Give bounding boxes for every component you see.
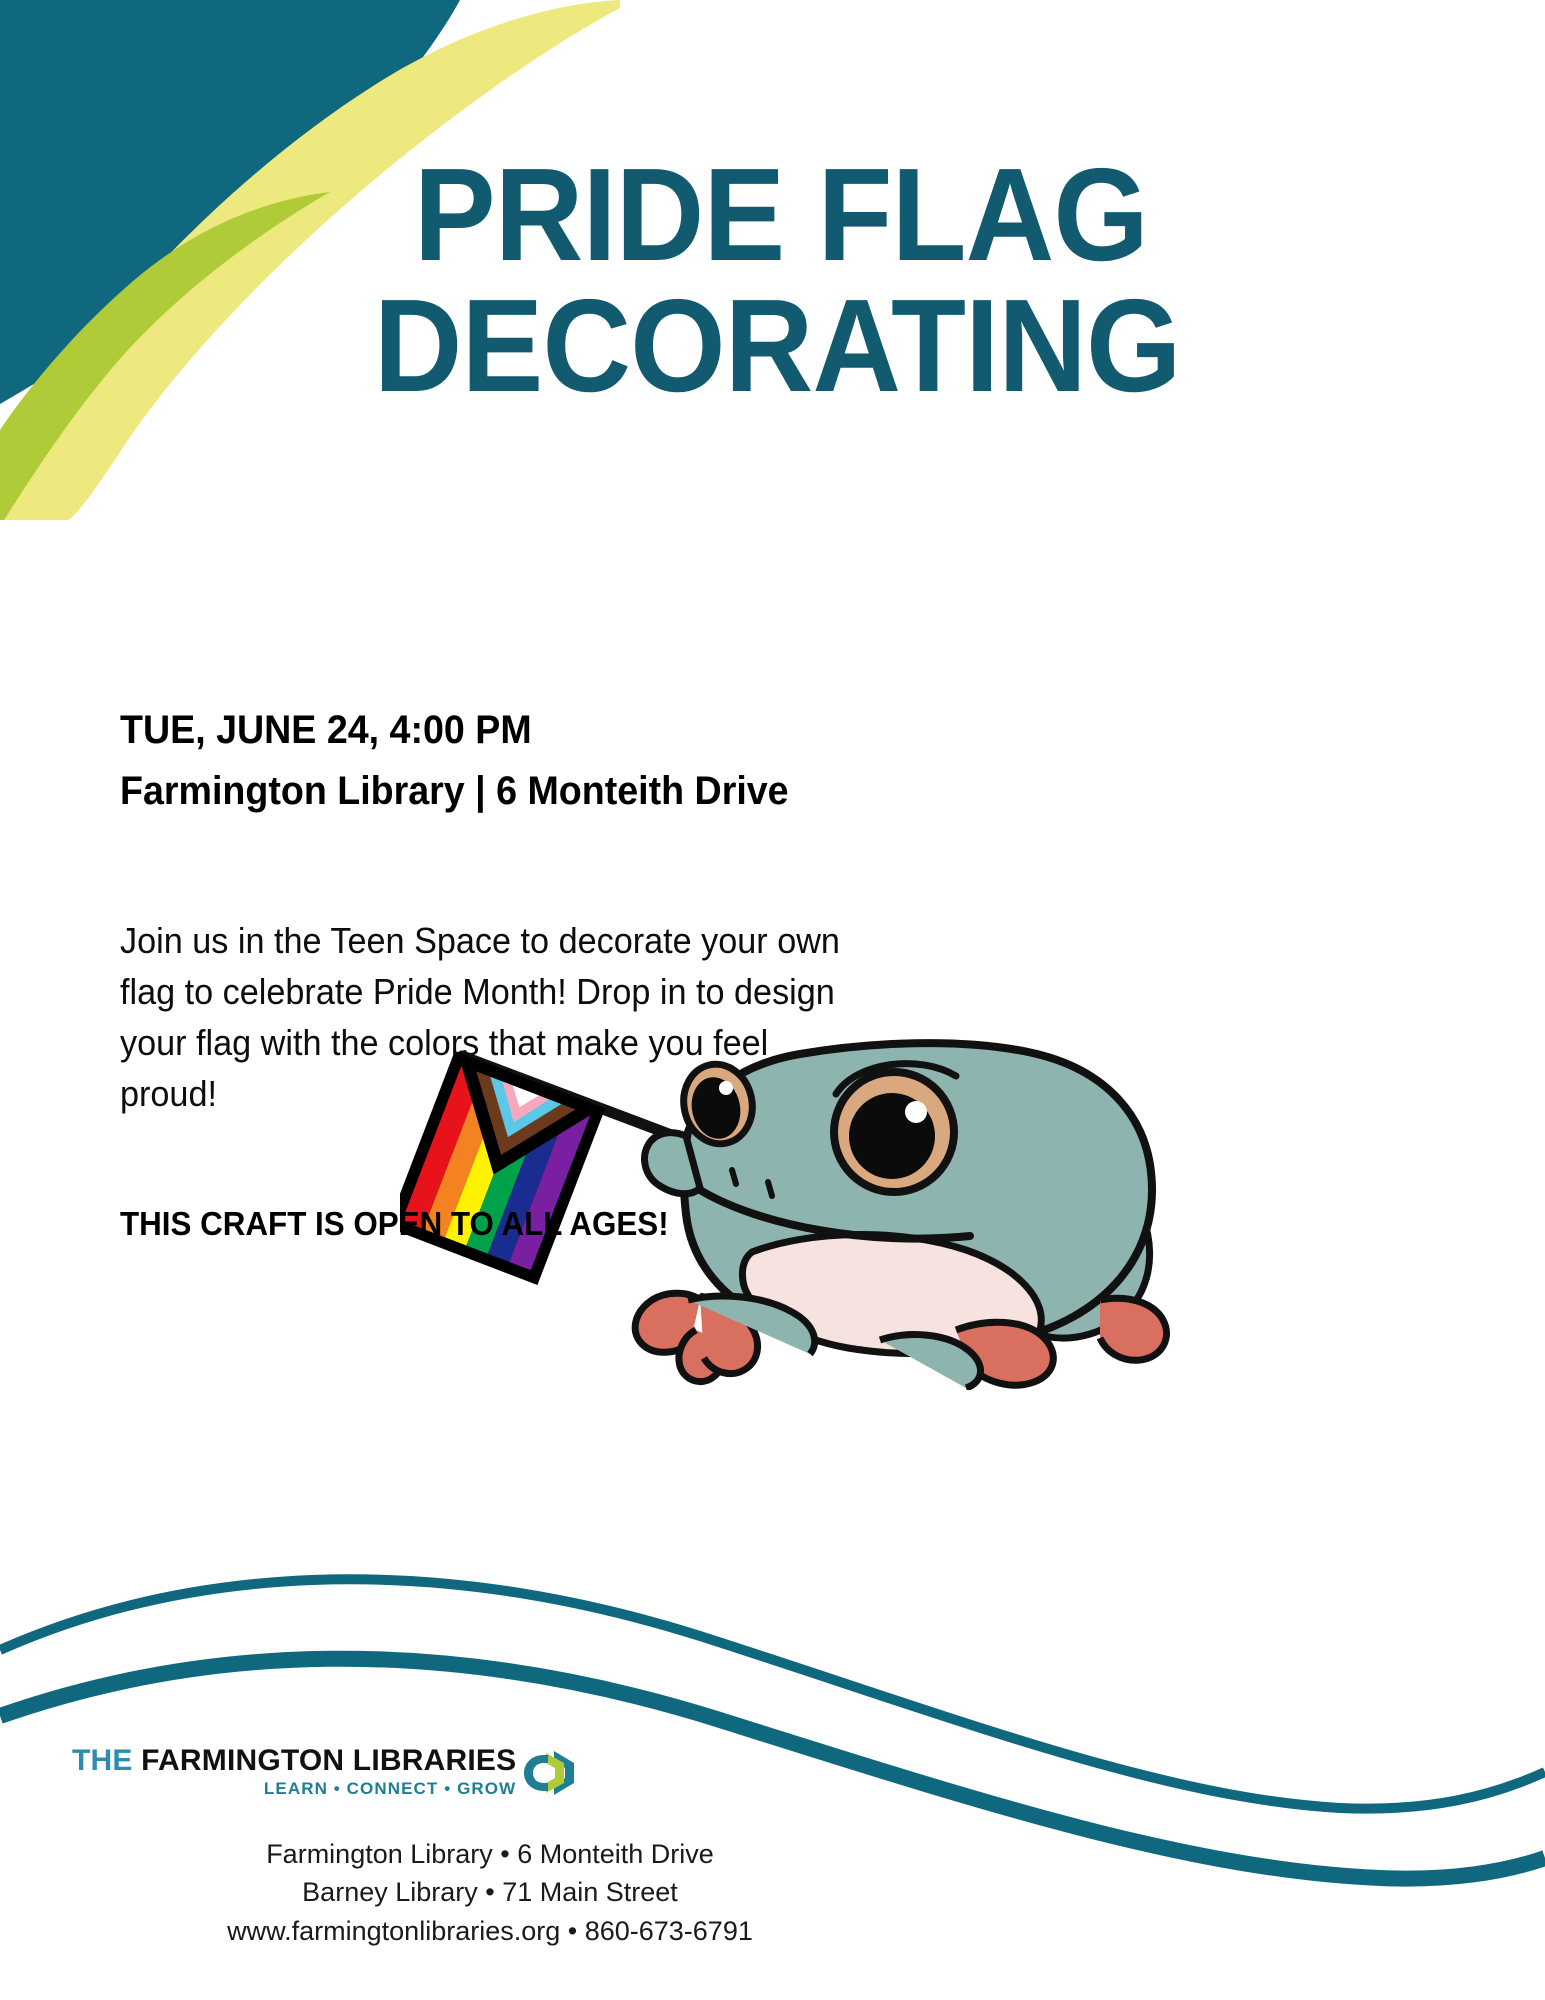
footer-line-3: www.farmingtonlibraries.org • 860-673-67… xyxy=(0,1912,980,1950)
event-location: Farmington Library | 6 Monteith Drive xyxy=(120,761,1060,822)
page-title: PRIDE FLAG DECORATING xyxy=(0,150,1545,411)
footer-contact-info: Farmington Library • 6 Monteith Drive Ba… xyxy=(0,1835,980,1950)
logo-name-text: FARMINGTON LIBRARIES xyxy=(141,1744,516,1777)
footer-line-1: Farmington Library • 6 Monteith Drive xyxy=(0,1835,980,1873)
event-description: Join us in the Teen Space to decorate yo… xyxy=(120,915,871,1119)
event-datetime: TUE, JUNE 24, 4:00 PM xyxy=(120,700,1060,761)
title-line-1: PRIDE FLAG xyxy=(54,150,1491,281)
title-line-2: DECORATING xyxy=(54,281,1491,412)
event-details: TUE, JUNE 24, 4:00 PM Farmington Library… xyxy=(120,700,1120,822)
frog-hind-toes xyxy=(1100,1298,1167,1360)
logo-wordmark: THE FARMINGTON LIBRARIES LEARN • CONNECT… xyxy=(72,1745,516,1799)
logo-tagline: LEARN • CONNECT • GROW xyxy=(264,1779,516,1799)
event-description-text: Join us in the Teen Space to decorate yo… xyxy=(120,915,871,1119)
all-ages-note: THIS CRAFT IS OPEN TO ALL AGES! xyxy=(120,1205,669,1243)
frog-front-foot xyxy=(635,1293,815,1381)
logo-mark-icon xyxy=(524,1749,576,1797)
logo-top-line: THE FARMINGTON LIBRARIES xyxy=(72,1745,516,1777)
footer-line-2: Barney Library • 71 Main Street xyxy=(0,1873,980,1911)
poster-canvas: PRIDE FLAG DECORATING TUE, JUNE 24, 4:00… xyxy=(0,0,1545,2000)
library-logo: THE FARMINGTON LIBRARIES LEARN • CONNECT… xyxy=(72,1745,576,1799)
logo-the-text: THE xyxy=(72,1744,133,1777)
